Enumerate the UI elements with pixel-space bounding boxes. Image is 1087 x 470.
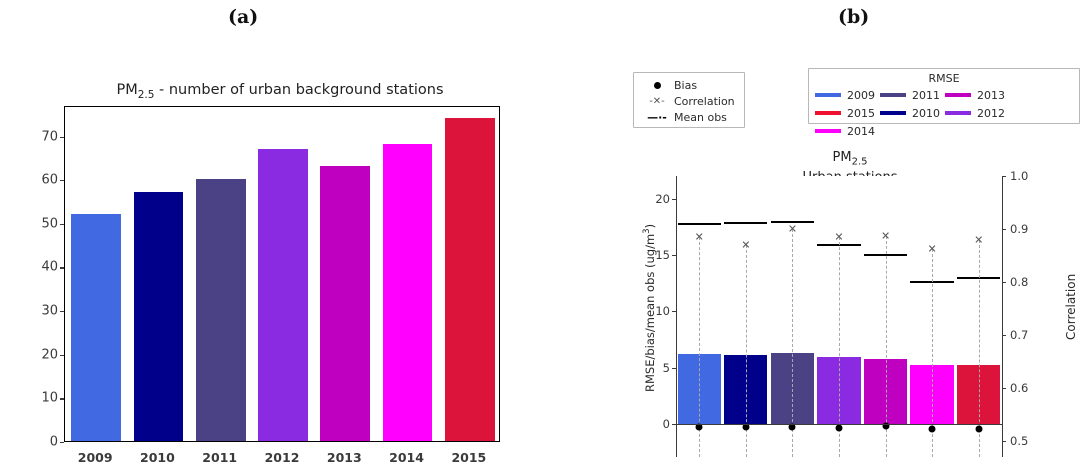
rmse-legend-title: RMSE [815, 72, 1073, 86]
panel-b-y-tick-20: 20 [650, 192, 670, 206]
panel-b-y-tick-0: 0 [650, 417, 670, 431]
panel-a-y-tickmark [60, 311, 64, 312]
panel-b-y2-tickmark [1002, 229, 1006, 230]
panel-b-bias-dot-2015 [975, 425, 982, 432]
panel-b-marker-legend: Bias-✕-Correlation—·-Mean obs [633, 72, 745, 128]
panel-b-y-tick-5: 5 [650, 361, 670, 375]
rmse-legend-swatch-2014 [815, 129, 841, 133]
rmse-legend-label-2012: 2012 [977, 107, 1005, 120]
panel-b-mean-obs-line-2010 [724, 222, 767, 224]
rmse-legend-label-2013: 2013 [977, 89, 1005, 102]
panel-a-x-tick-2015: 2015 [451, 450, 486, 465]
legend-label: Mean obs [674, 111, 727, 124]
panel-a-y-tickmark [60, 180, 64, 181]
legend-item-bias: Bias [640, 77, 738, 93]
panel-b-bias-dot-2014 [929, 426, 936, 433]
panel-b-correlation-marker-2015: ✕ [974, 234, 983, 245]
panel-b-title-prefix: PM [833, 150, 852, 165]
panel-b-y-tickmark [672, 424, 676, 425]
panel-a-y-tick-10: 10 [28, 391, 58, 406]
panel-a-y-tick-20: 20 [28, 347, 58, 362]
panel-a-y-tick-40: 40 [28, 260, 58, 275]
panel-b-y-tickmark [672, 199, 676, 200]
panel-a-y-tickmark [60, 224, 64, 225]
panel-b-y-tick-10: 10 [650, 304, 670, 318]
panel-b-correlation-marker-2009: ✕ [695, 231, 704, 242]
panel-b-title-subscript: 2.5 [852, 157, 868, 168]
panel-a-bar-2011 [196, 179, 246, 441]
legend-label: Bias [674, 79, 697, 92]
panel-b-zero-baseline [676, 424, 1002, 425]
panel-b-y2-tick-0.6: 0.6 [1010, 381, 1028, 395]
rmse-legend-swatch-2013 [945, 93, 971, 97]
rmse-legend-item-2009: 2009 [815, 86, 880, 104]
panel-b-y-tickmark [672, 255, 676, 256]
panel-b-correlation-marker-2010: ✕ [741, 239, 750, 250]
panel-a-title-prefix: PM [116, 82, 137, 98]
rmse-legend-swatch-2015 [815, 111, 841, 115]
panel-b-y2-tickmark [1002, 388, 1006, 389]
rmse-legend-swatch-2011 [880, 93, 906, 97]
panel-b-y2-tick-0.9: 0.9 [1010, 222, 1028, 236]
panel-b-y-tick-15: 15 [650, 248, 670, 262]
rmse-legend-item-2014: 2014 [815, 122, 880, 140]
rmse-legend-label-2015: 2015 [847, 107, 875, 120]
panel-b-mean-obs-line-2009 [678, 223, 721, 225]
mean-obs-dashdot-icon: —·- [640, 111, 674, 124]
panel-a-y-tickmark [60, 355, 64, 356]
panel-label-a: (a) [228, 6, 258, 28]
panel-b-y-tickmark [672, 311, 676, 312]
rmse-legend-item-2013: 2013 [945, 86, 1010, 104]
panel-a-x-tick-2012: 2012 [265, 450, 300, 465]
panel-b-y2-axis-label: Correlation [1064, 274, 1078, 340]
bias-dot-icon [640, 82, 674, 89]
rmse-legend-label-2014: 2014 [847, 125, 875, 138]
panel-a-y-tickmark [60, 442, 64, 443]
rmse-legend-swatch-2012 [945, 111, 971, 115]
panel-b-y2-tickmark [1002, 335, 1006, 336]
panel-b-correlation-marker-2013: ✕ [881, 230, 890, 241]
panel-a-title-suffix: - number of urban background stations [154, 82, 443, 98]
correlation-dashed-x-icon: -✕- [640, 96, 674, 107]
legend-label: Correlation [674, 95, 735, 108]
panel-a-y-tickmark [60, 398, 64, 399]
marker-legend-items: Bias-✕-Correlation—·-Mean obs [640, 77, 738, 125]
panel-a-y-tick-0: 0 [28, 435, 58, 450]
rmse-legend-label-2009: 2009 [847, 89, 875, 102]
rmse-legend-item-2012: 2012 [945, 104, 1010, 122]
panel-a-bar-2014 [383, 144, 433, 441]
panel-a-y-tick-30: 30 [28, 304, 58, 319]
panel-a-bar-2009 [71, 214, 121, 441]
panel-b-y2-tick-0.5: 0.5 [1010, 434, 1028, 448]
panel-b-correlation-marker-2011: ✕ [788, 224, 797, 235]
panel-a-title-subscript: 2.5 [138, 89, 155, 101]
rmse-legend-item-2010: 2010 [880, 104, 945, 122]
panel-b-y2-tick-1.0: 1.0 [1010, 169, 1028, 183]
rmse-legend-swatch-2010 [880, 111, 906, 115]
panel-label-b: (b) [838, 6, 869, 28]
panel-a-x-tick-2014: 2014 [389, 450, 424, 465]
rmse-legend-label-2010: 2010 [912, 107, 940, 120]
panel-b-y2-tick-0.8: 0.8 [1010, 275, 1028, 289]
panel-b-correlation-stem-2011 [792, 229, 793, 457]
panel-a-bar-2012 [258, 149, 308, 441]
panel-b-y-tickmark [672, 368, 676, 369]
panel-a-y-tickmark [60, 137, 64, 138]
panel-b-y2-tickmark [1002, 282, 1006, 283]
panel-a-y-tick-70: 70 [28, 129, 58, 144]
panel-a-x-tick-2011: 2011 [202, 450, 237, 465]
rmse-legend-item-2011: 2011 [880, 86, 945, 104]
panel-a-x-tick-2009: 2009 [78, 450, 113, 465]
y-label-suffix: ) [643, 224, 657, 229]
legend-item-mean-obs: —·-Mean obs [640, 109, 738, 125]
panel-a-bar-2015 [445, 118, 495, 441]
panel-b-y2-tick-0.7: 0.7 [1010, 328, 1028, 342]
rmse-legend-item-2015: 2015 [815, 104, 880, 122]
panel-b-plot-area: ✕✕✕✕✕✕✕ [676, 176, 1002, 441]
rmse-legend-items: 2009201120132015201020122014 [815, 86, 1073, 140]
rmse-legend-label-2011: 2011 [912, 89, 940, 102]
panel-b-right-spine [1002, 176, 1003, 457]
panel-a-y-tickmark [60, 267, 64, 268]
rmse-legend-swatch-2009 [815, 93, 841, 97]
panel-a-title: PM2.5 - number of urban background stati… [55, 82, 505, 101]
panel-b-correlation-marker-2012: ✕ [834, 231, 843, 242]
panel-b-y2-tickmark [1002, 176, 1006, 177]
panel-a-bar-2013 [320, 166, 370, 441]
panel-a-y-tick-50: 50 [28, 216, 58, 231]
panel-a-plot-frame [64, 106, 500, 442]
legend-item-correlation: -✕-Correlation [640, 93, 738, 109]
panel-b-left-spine [676, 176, 677, 457]
panel-a-x-tick-2013: 2013 [327, 450, 362, 465]
panel-b-rmse-legend: RMSE 2009201120132015201020122014 [808, 68, 1080, 124]
y-label-superscript: 3 [642, 228, 652, 233]
panel-a-y-tick-60: 60 [28, 173, 58, 188]
panel-b-bias-dot-2012 [836, 425, 843, 432]
panel-b-correlation-marker-2014: ✕ [928, 244, 937, 255]
panel-b-y2-tickmark [1002, 441, 1006, 442]
panel-a-x-tick-2010: 2010 [140, 450, 175, 465]
panel-a-bar-2010 [134, 192, 184, 441]
